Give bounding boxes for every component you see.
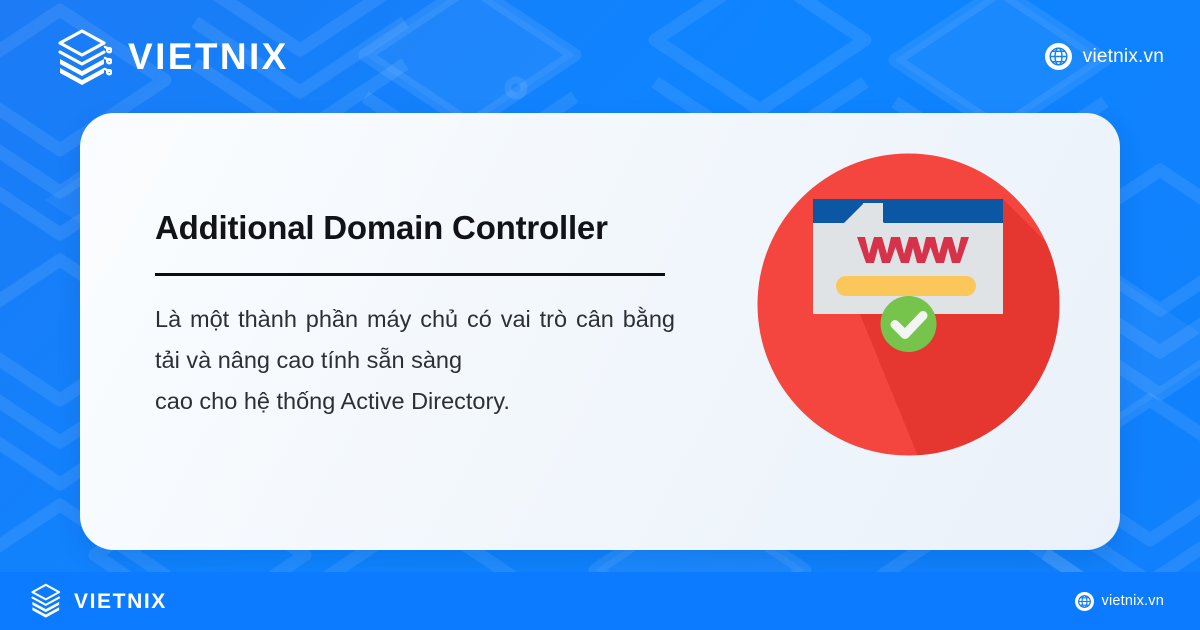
content-card: Additional Domain Controller Là một thàn… xyxy=(80,113,1120,550)
page-title: Additional Domain Controller xyxy=(155,209,680,247)
header-website-link[interactable]: vietnix.vn xyxy=(1045,43,1164,70)
description-line-1: Là một thành phần máy chủ có vai trò xyxy=(155,306,567,332)
www-website-verified-icon xyxy=(741,137,1076,472)
card-description: Là một thành phần máy chủ có vai trò cân… xyxy=(155,299,675,422)
title-divider xyxy=(155,273,665,276)
card-copy: Additional Domain Controller Là một thàn… xyxy=(155,209,680,422)
globe-icon xyxy=(1045,43,1072,70)
description-line-3: cao cho hệ thống Active Directory. xyxy=(155,381,675,422)
footer: VIETNIX vietnix.vn xyxy=(0,572,1200,630)
header-website-label: vietnix.vn xyxy=(1083,47,1164,66)
footer-brand-logo[interactable]: VIETNIX xyxy=(30,583,167,619)
footer-website-label: vietnix.vn xyxy=(1102,594,1164,609)
stacked-layers-icon xyxy=(30,583,64,619)
footer-brand-wordmark: VIETNIX xyxy=(74,591,167,612)
brand-wordmark: VIETNIX xyxy=(128,38,289,75)
stacked-layers-icon xyxy=(56,28,112,86)
banner: VIETNIX vietnix.vn xyxy=(0,0,1200,630)
footer-website-link[interactable]: vietnix.vn xyxy=(1075,592,1164,611)
globe-icon xyxy=(1075,592,1094,611)
brand-logo[interactable]: VIETNIX xyxy=(56,28,289,86)
header: VIETNIX vietnix.vn xyxy=(0,0,1200,113)
